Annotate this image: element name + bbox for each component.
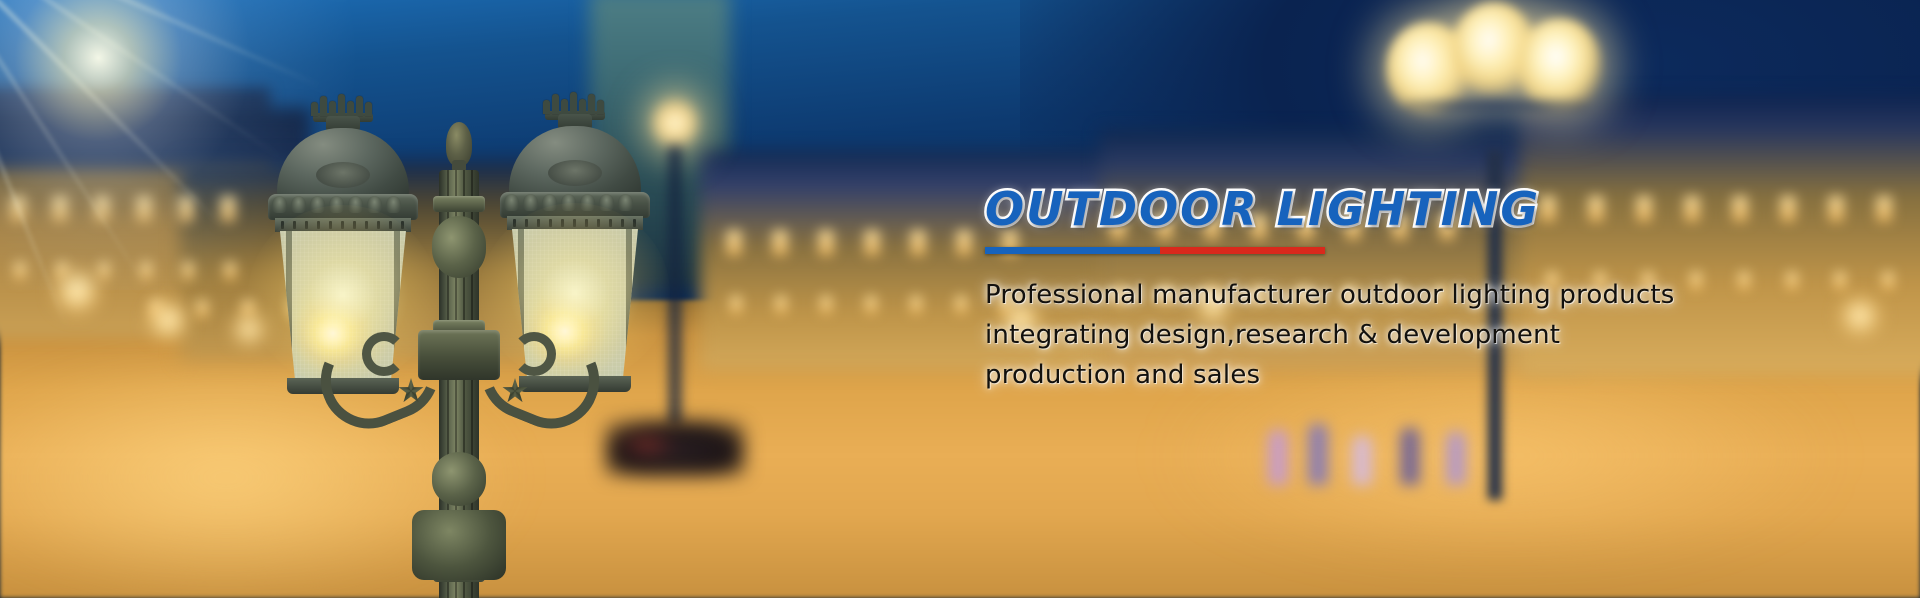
subheadline-line-1: Professional manufacturer outdoor lighti…: [985, 280, 1745, 310]
banner-copy: OUTDOOR LIGHTING Professional manufactur…: [985, 185, 1745, 400]
lamp-ornament-collar: [268, 194, 418, 220]
divider-red-segment: [1160, 247, 1325, 254]
outdoor-lighting-banner: OUTDOOR LIGHTING Professional manufactur…: [0, 0, 1920, 598]
lamp-ornament-collar: [500, 192, 650, 218]
headline-divider: [985, 247, 1325, 254]
lamp-dome: [509, 126, 641, 202]
distant-light-orb: [148, 300, 188, 340]
lamp-finial: [446, 122, 472, 166]
lamp-shaft-bulge: [432, 452, 486, 506]
lamp-globe: [1518, 18, 1602, 110]
lamp-crown: [311, 90, 375, 116]
foreground-street-lamp: [250, 40, 670, 598]
lamp-center-hub: [418, 330, 500, 380]
window-row-center-lower: [730, 296, 1012, 314]
lamp-scroll-curl: [362, 332, 406, 376]
blurred-pedestrians: [1260, 400, 1500, 485]
lamp-shaft-bulge: [432, 216, 486, 278]
mid-lamp-pole: [670, 145, 680, 425]
divider-blue-segment: [985, 247, 1160, 254]
lamp-rim: [275, 218, 411, 232]
lamp-crown: [543, 88, 607, 114]
banner-headline: OUTDOOR LIGHTING: [985, 185, 1745, 233]
subheadline-line-2: integrating design,research & developmen…: [985, 320, 1745, 350]
banner-subheadline: Professional manufacturer outdoor lighti…: [985, 280, 1745, 390]
lamp-rim: [507, 216, 643, 230]
window-row-center-upper: [726, 230, 1018, 256]
lamp-crossbar: [1404, 100, 1588, 110]
subheadline-line-3: production and sales: [985, 360, 1745, 390]
distant-light-orb: [1840, 296, 1880, 336]
lamp-scroll-curl: [512, 332, 556, 376]
lamp-dome: [277, 128, 409, 204]
lamp-base-ornament: [412, 510, 506, 580]
